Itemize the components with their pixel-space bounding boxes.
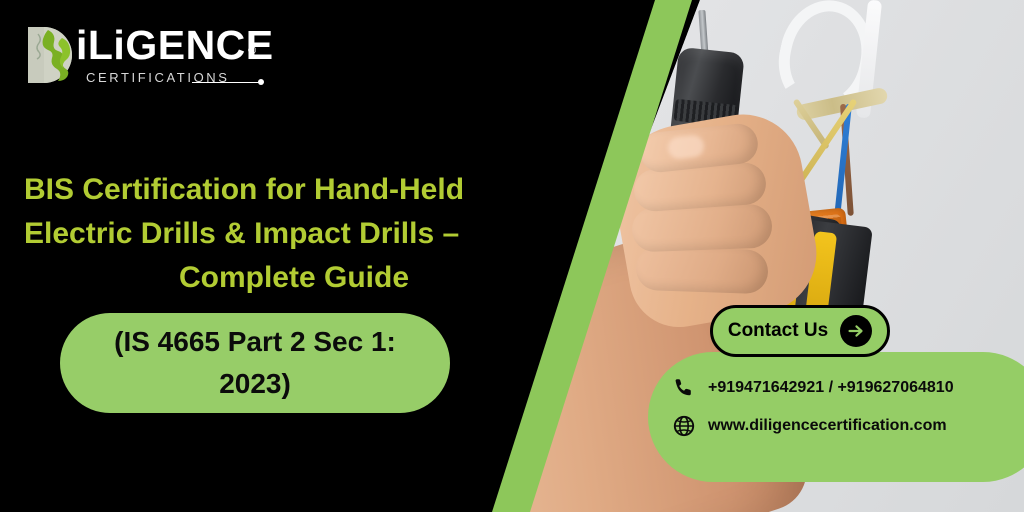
- contact-info-panel: +919471642921 / +919627064810 www.dilige…: [648, 352, 1024, 482]
- phone-icon: [672, 376, 696, 400]
- page-title: BIS Certification for Hand-Held Electric…: [24, 168, 564, 300]
- registered-mark: ®: [248, 46, 256, 57]
- headline-line-3: Complete Guide: [24, 256, 564, 300]
- brand-logo[interactable]: iLiGENCE ® CERTIFICATIONS: [20, 18, 270, 88]
- contact-phone-text: +919471642921 / +919627064810: [708, 379, 954, 397]
- logo-wordmark: iLiGENCE: [76, 22, 274, 68]
- headline-line-1: BIS Certification for Hand-Held: [24, 168, 564, 212]
- standard-badge-text: (IS 4665 Part 2 Sec 1: 2023): [105, 321, 405, 405]
- badge-line-1: (IS 4665 Part 2 Sec: [114, 326, 363, 357]
- arrow-right-icon: [840, 315, 872, 347]
- globe-icon: [672, 414, 696, 438]
- contact-website-row[interactable]: www.diligencecertification.com: [672, 414, 947, 438]
- contact-us-button[interactable]: Contact Us: [710, 305, 890, 357]
- contact-us-label: Contact Us: [728, 320, 828, 342]
- logo-rule-dot: [258, 79, 264, 85]
- headline-line-2: Electric Drills & Impact Drills –: [24, 212, 564, 256]
- globe-d-logo-icon: [24, 24, 82, 86]
- marketing-banner: iLiGENCE ® CERTIFICATIONS BIS Certificat…: [0, 0, 1024, 512]
- finger-4: [635, 246, 768, 295]
- logo-rule: [192, 82, 260, 83]
- standard-badge: (IS 4665 Part 2 Sec 1: 2023): [60, 313, 450, 413]
- contact-website-text: www.diligencecertification.com: [708, 417, 947, 435]
- contact-phone-row[interactable]: +919471642921 / +919627064810: [672, 376, 954, 400]
